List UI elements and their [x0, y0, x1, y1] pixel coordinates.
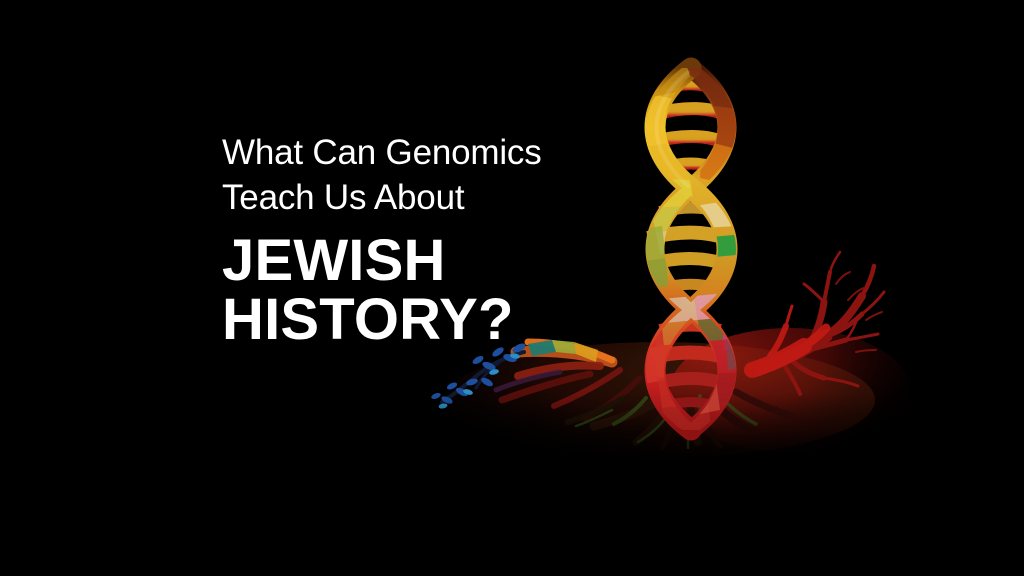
title-line-4: HISTORY? [222, 290, 652, 349]
title-line-3: JEWISH [222, 231, 652, 290]
title-line-2: Teach Us About [222, 175, 652, 220]
page-title: What Can Genomics Teach Us About JEWISH … [222, 130, 652, 349]
title-line-1: What Can Genomics [222, 130, 652, 175]
slide-canvas: What Can Genomics Teach Us About JEWISH … [0, 0, 1024, 576]
